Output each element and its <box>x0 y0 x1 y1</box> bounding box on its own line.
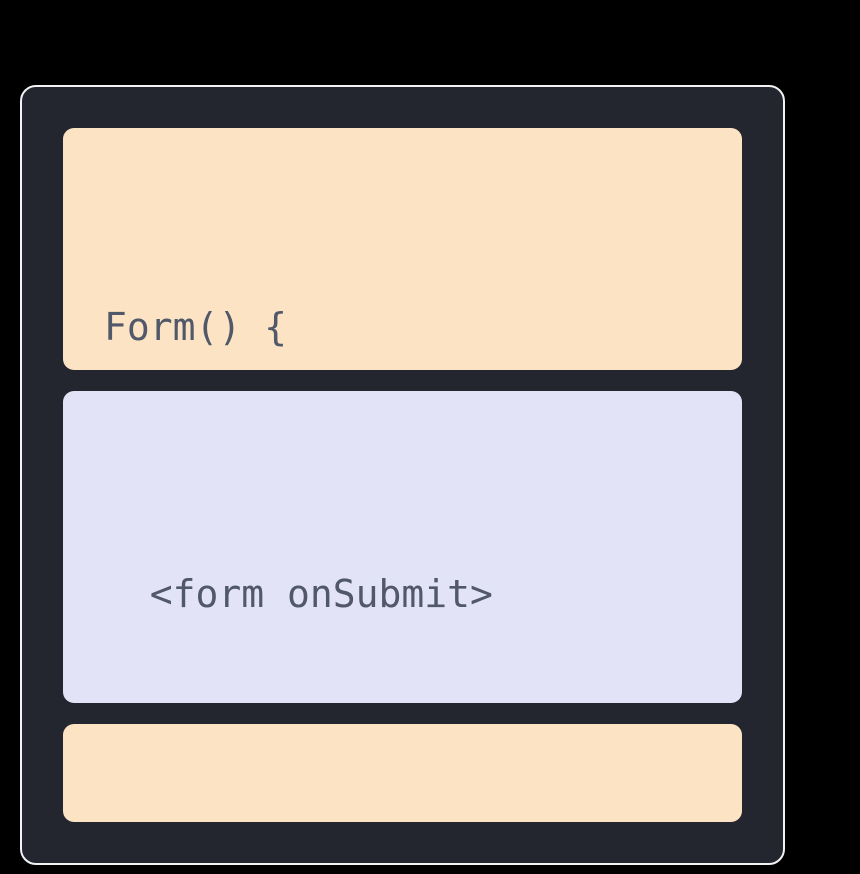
component-signature-block: Form() { onClick() {...} onSubmit() {...… <box>63 128 742 370</box>
code-panel: Form() { onClick() {...} onSubmit() {...… <box>20 85 785 865</box>
stage: Form() { onClick() {...} onSubmit() {...… <box>0 0 860 874</box>
closing-brace-block: } <box>63 724 742 822</box>
code-line: Form() { <box>63 290 742 364</box>
code-line: <form onSubmit> <box>63 557 742 631</box>
jsx-markup-block: <form onSubmit> <input onClick /> <input… <box>63 391 742 704</box>
block-gap <box>63 703 742 724</box>
block-gap <box>63 370 742 391</box>
